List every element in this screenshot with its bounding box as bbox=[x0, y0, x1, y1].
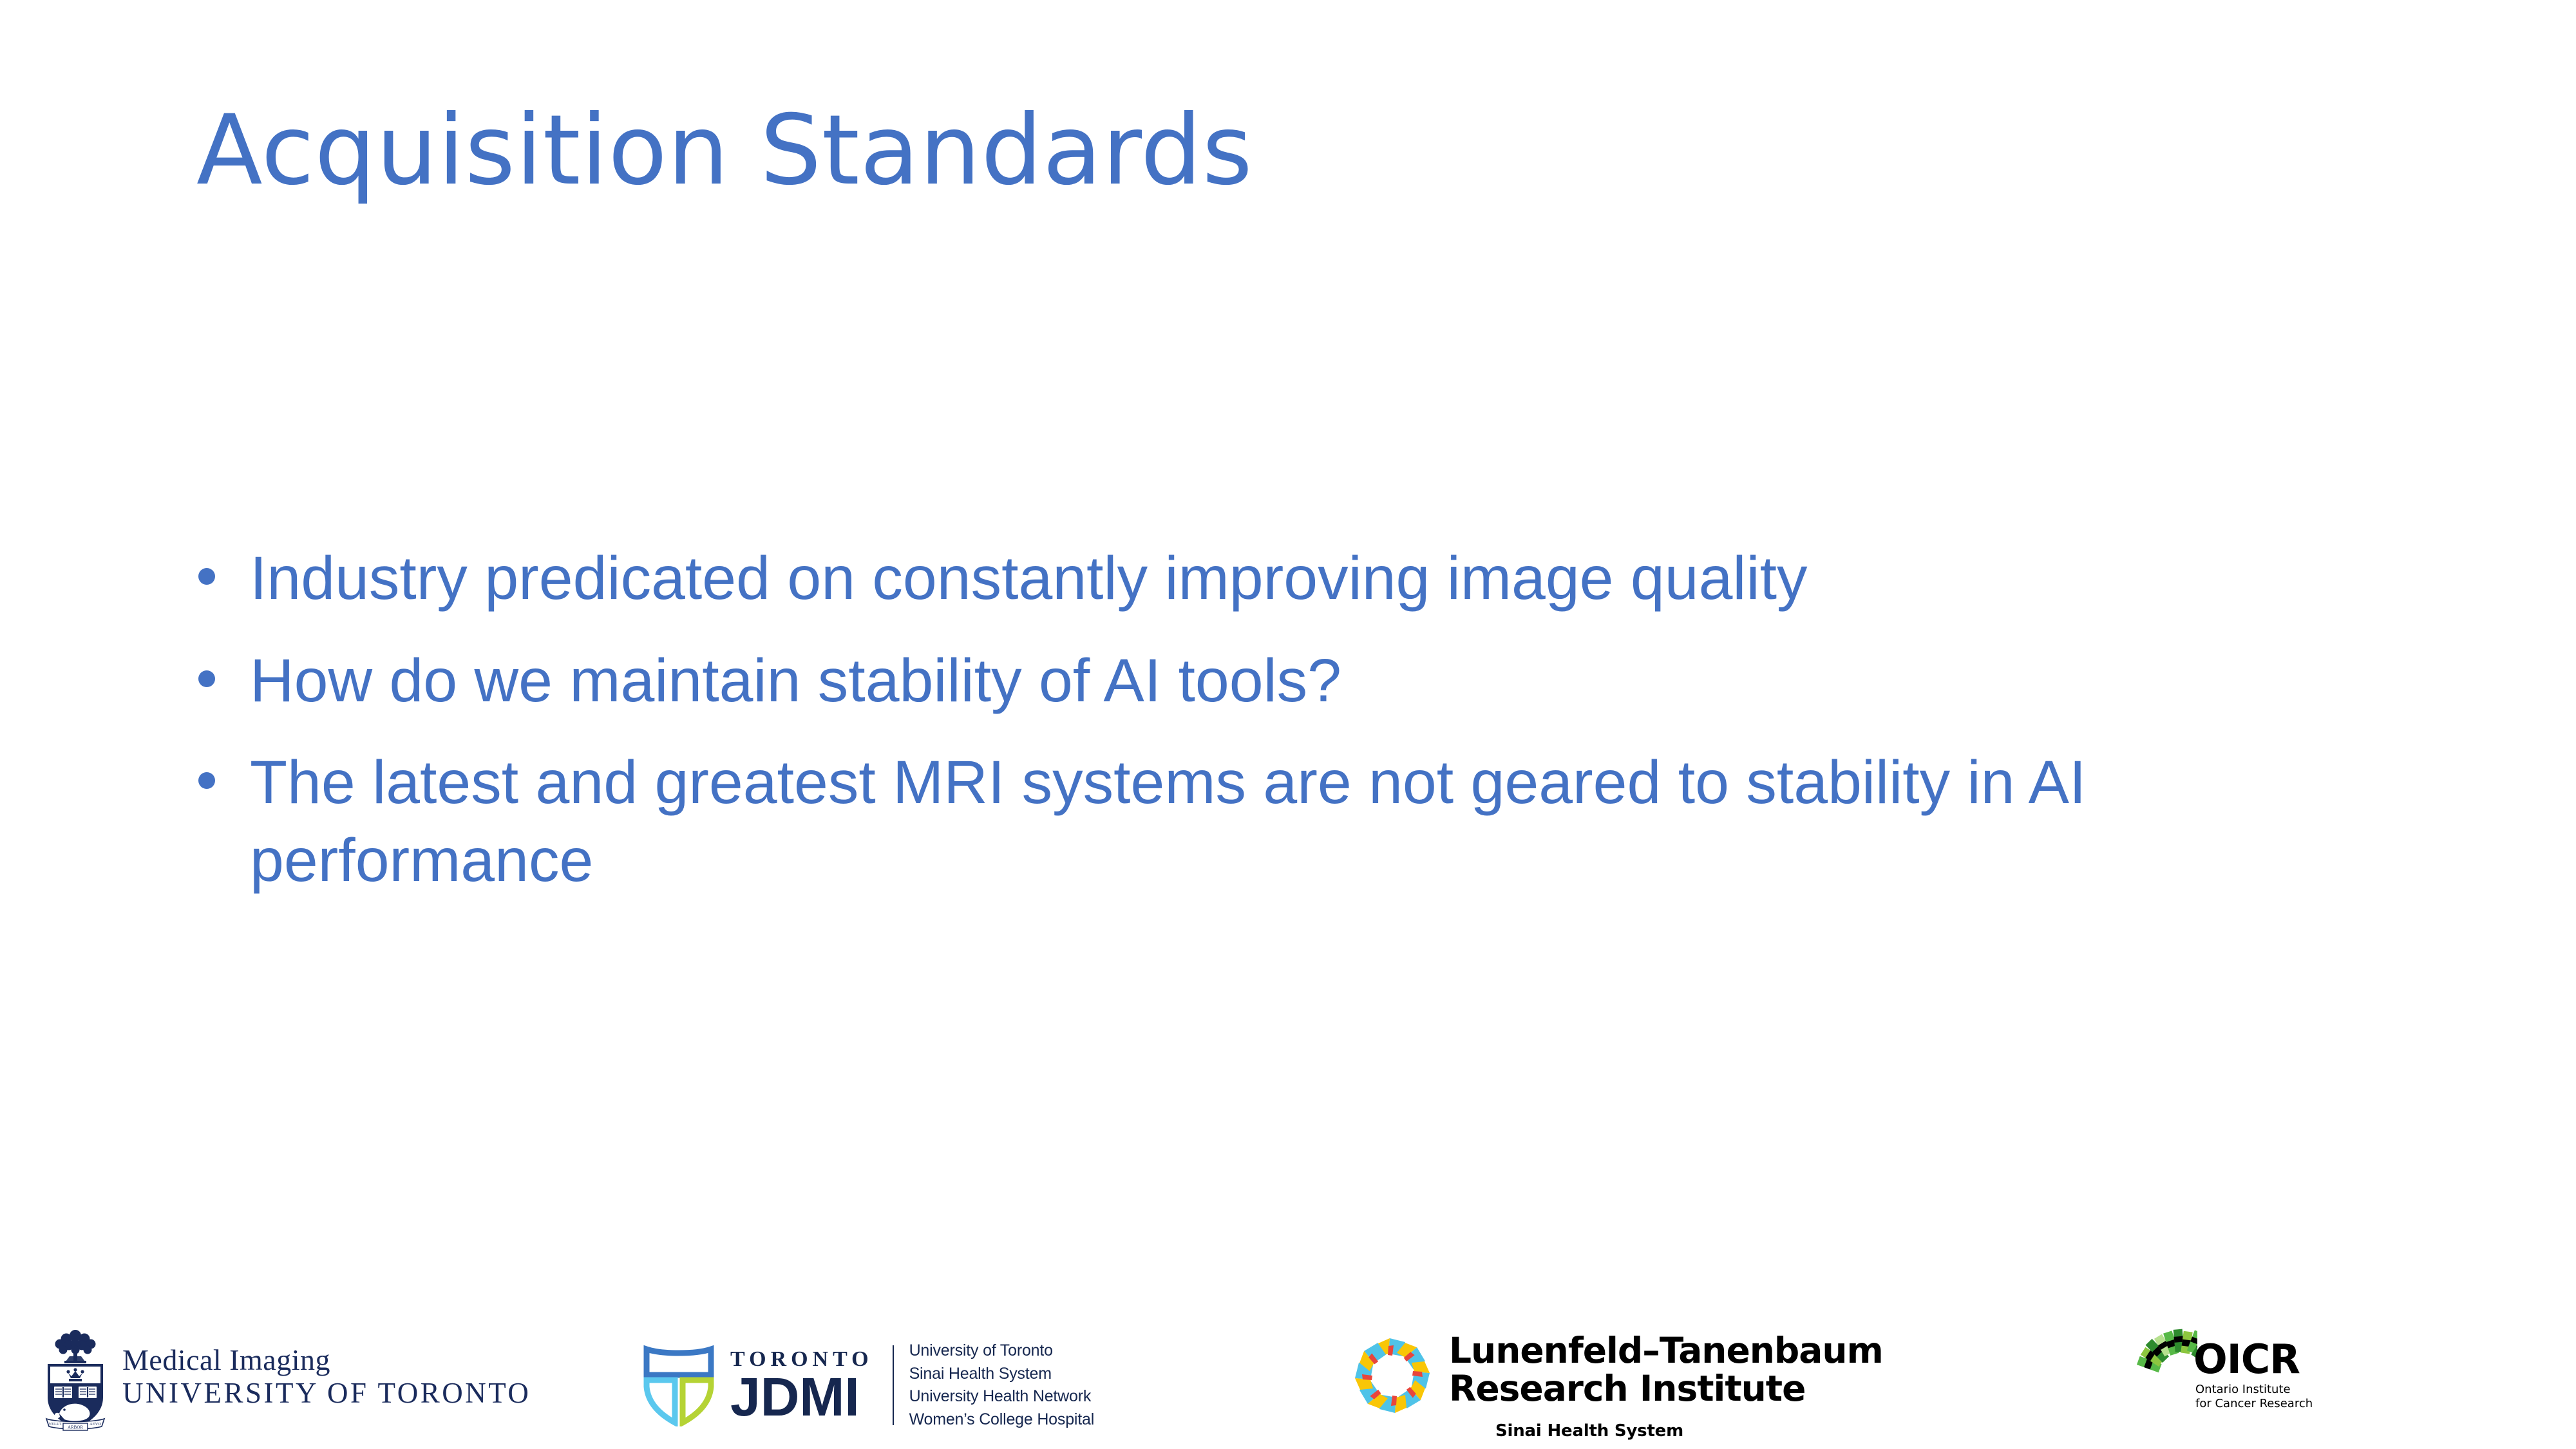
oicr-tagline-line2: for Cancer Research bbox=[2195, 1397, 2313, 1412]
lunenfeld-tanenbaum-research-institute-logo: Lunenfeld–Tanenbaum Research Institute S… bbox=[1350, 1332, 1883, 1441]
bullet-dot-icon bbox=[198, 568, 215, 585]
bullet-dot-icon bbox=[198, 772, 215, 789]
bullet-text: The latest and greatest MRI systems are … bbox=[250, 748, 2086, 895]
bullet-text: Industry predicated on constantly improv… bbox=[250, 544, 1808, 612]
list-item: How do we maintain stability of AI tools… bbox=[193, 642, 2396, 720]
ltri-name-line2: Research Institute bbox=[1449, 1370, 1883, 1408]
uoft-university-text: UNIVERSITY OF TORONTO bbox=[122, 1375, 531, 1411]
uoft-medical-imaging-text: Medical Imaging bbox=[122, 1345, 531, 1375]
ltri-burst-icon bbox=[1350, 1333, 1435, 1418]
jdmi-shield-icon bbox=[643, 1344, 715, 1426]
jdmi-partner-list: University of Toronto Sinai Health Syste… bbox=[909, 1340, 1094, 1431]
ltri-name-line1: Lunenfeld–Tanenbaum bbox=[1449, 1332, 1883, 1370]
jdmi-partner: Sinai Health System bbox=[909, 1363, 1094, 1386]
page-title: Acquisition Standards bbox=[196, 95, 2386, 207]
svg-text:ARBOR: ARBOR bbox=[68, 1425, 83, 1430]
jdmi-acronym-text: JDMI bbox=[730, 1373, 873, 1422]
footer-logo-strip: ARBOR VELUT AEVO Medical Imaging UNIVERS… bbox=[0, 1314, 2576, 1449]
svg-text:VELUT: VELUT bbox=[48, 1422, 62, 1426]
toronto-jdmi-logo: TORONTO JDMI University of Toronto Sinai… bbox=[643, 1340, 1094, 1431]
list-item: The latest and greatest MRI systems are … bbox=[193, 744, 2396, 899]
oicr-burst-icon bbox=[2120, 1328, 2197, 1425]
jdmi-partner: Women’s College Hospital bbox=[909, 1408, 1094, 1432]
ontario-institute-for-cancer-research-logo: OICR Ontario Institute for Cancer Resear… bbox=[2120, 1328, 2313, 1425]
ltri-parent-org: Sinai Health System bbox=[1495, 1421, 1883, 1441]
svg-text:AEVO: AEVO bbox=[90, 1422, 101, 1426]
bullet-text: How do we maintain stability of AI tools… bbox=[250, 647, 1341, 715]
jdmi-partner: University of Toronto bbox=[909, 1340, 1094, 1363]
oicr-acronym-text: OICR bbox=[2193, 1341, 2313, 1379]
presentation-slide: Acquisition Standards Industry predicate… bbox=[0, 0, 2576, 1449]
university-of-toronto-medical-imaging-logo: ARBOR VELUT AEVO Medical Imaging UNIVERS… bbox=[40, 1325, 531, 1432]
jdmi-divider bbox=[893, 1345, 894, 1425]
oicr-tagline-line1: Ontario Institute bbox=[2195, 1383, 2313, 1397]
jdmi-partner: University Health Network bbox=[909, 1385, 1094, 1408]
bullet-dot-icon bbox=[198, 670, 215, 687]
list-item: Industry predicated on constantly improv… bbox=[193, 540, 2396, 618]
bullet-list: Industry predicated on constantly improv… bbox=[193, 540, 2396, 900]
oicr-tagline: Ontario Institute for Cancer Research bbox=[2195, 1383, 2313, 1412]
uoft-crest-icon: ARBOR VELUT AEVO bbox=[40, 1325, 111, 1432]
